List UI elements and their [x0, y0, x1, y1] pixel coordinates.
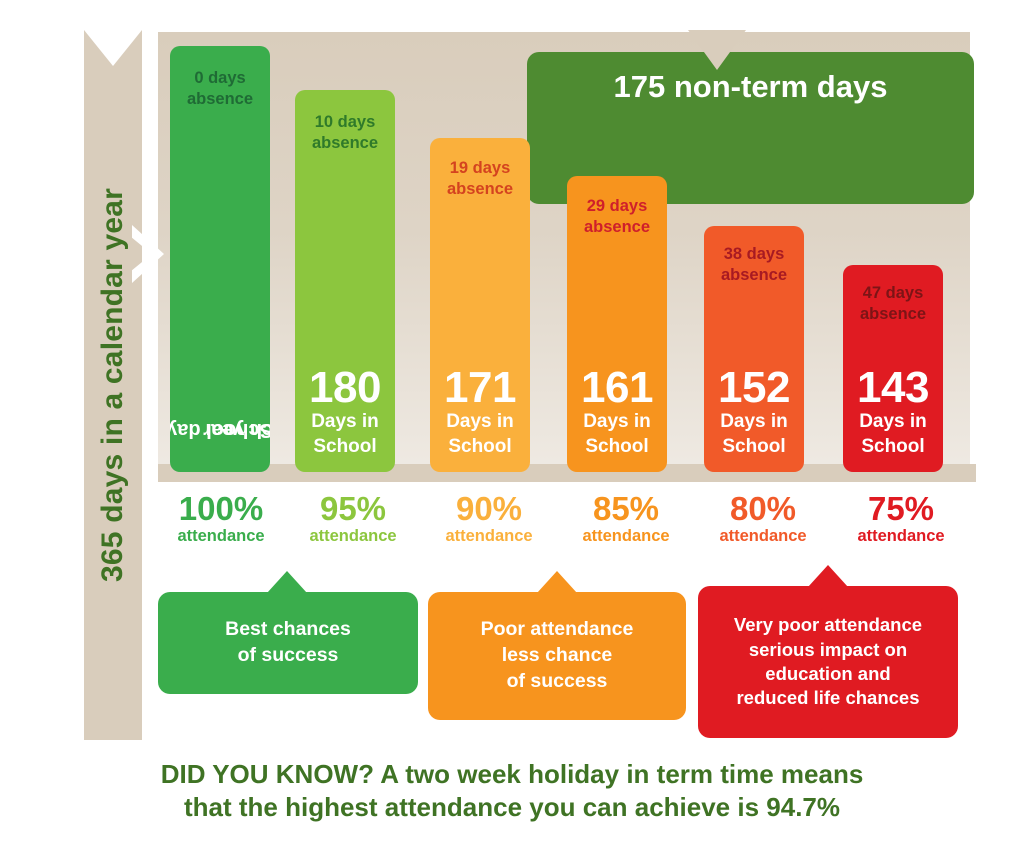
callout-very-poor-line3: education and: [734, 662, 922, 686]
bar-171-sub-line2: School: [430, 436, 530, 458]
bar-190-absence-line1: 0 days: [170, 68, 270, 89]
callout-very-poor-line2: serious impact on: [734, 638, 922, 662]
bar-143-absence-line2: absence: [843, 304, 943, 325]
bar-171-absence: 19 days absence: [430, 158, 530, 200]
bar-180-sub-line1: Days in: [295, 411, 395, 433]
attendance-label-85: attendance: [563, 527, 689, 546]
callout-tip-red-icon: [808, 565, 848, 587]
callout-best-chances-line1: Best chances: [225, 617, 351, 643]
callout-very-poor-line1: Very poor attendance: [734, 613, 922, 637]
bar-171-absence-line1: 19 days: [430, 158, 530, 179]
attendance-cell-80: 80% attendance: [700, 492, 826, 546]
attendance-value-75: 75%: [838, 492, 964, 526]
callout-very-poor-attendance-text: Very poor attendance serious impact on e…: [734, 613, 922, 711]
non-term-days-label: 175 non-term days: [527, 52, 974, 122]
callout-poor-attendance: Poor attendance less chance of success: [428, 592, 686, 720]
bar-161-bottom: 161 Days in School: [567, 366, 667, 458]
bar-152: 38 days absence 152 Days in School: [704, 226, 804, 472]
attendance-cell-85: 85% attendance: [563, 492, 689, 546]
bar-171-bottom: 171 Days in School: [430, 366, 530, 458]
bar-171: 19 days absence 171 Days in School: [430, 138, 530, 472]
bar-152-absence-line2: absence: [704, 265, 804, 286]
callout-poor-attendance-line1: Poor attendance: [481, 617, 634, 643]
bar-161-sub-line2: School: [567, 436, 667, 458]
footer-line1: DID YOU KNOW? A two week holiday in term…: [0, 758, 1024, 791]
footer-line2: that the highest attendance you can achi…: [0, 791, 1024, 824]
attendance-cell-95: 95% attendance: [290, 492, 416, 546]
bar-143-sub-line2: School: [843, 436, 943, 458]
attendance-cell-100: 100% attendance: [158, 492, 284, 546]
bar-180-absence-line2: absence: [295, 133, 395, 154]
callout-very-poor-attendance: Very poor attendance serious impact on e…: [698, 586, 958, 738]
bar-152-sub-line1: Days in: [704, 411, 804, 433]
bar-152-bottom: 152 Days in School: [704, 366, 804, 458]
attendance-label-100: attendance: [158, 527, 284, 546]
attendance-infographic: 365 days in a calendar year 175 non-term…: [0, 0, 1024, 854]
bar-143-sub-line1: Days in: [843, 411, 943, 433]
bar-161: 29 days absence 161 Days in School: [567, 176, 667, 472]
bar-190-caption: School daysIn each year: [203, 371, 271, 472]
attendance-cell-90: 90% attendance: [426, 492, 552, 546]
bar-190: 0 days absence 190 School daysIn each ye…: [170, 46, 270, 472]
bar-161-sub-line1: Days in: [567, 411, 667, 433]
bar-190-caption-wrap: School daysIn each year: [204, 202, 270, 464]
attendance-cell-75: 75% attendance: [838, 492, 964, 546]
bar-180-value: 180: [295, 366, 395, 409]
bar-190-caption-line2: In each year: [201, 418, 270, 441]
callout-poor-attendance-text: Poor attendance less chance of success: [481, 617, 634, 694]
bar-190-rotated-group: 190 School daysIn each year: [170, 164, 270, 464]
bar-171-sub-line1: Days in: [430, 411, 530, 433]
callout-poor-attendance-line2: less chance: [481, 643, 634, 669]
attendance-value-95: 95%: [290, 492, 416, 526]
callout-best-chances: Best chances of success: [158, 592, 418, 694]
bar-161-absence: 29 days absence: [567, 196, 667, 238]
callout-best-chances-text: Best chances of success: [225, 617, 351, 668]
bar-143-bottom: 143 Days in School: [843, 366, 943, 458]
bar-143-absence-line1: 47 days: [843, 283, 943, 304]
attendance-label-90: attendance: [426, 527, 552, 546]
bar-143: 47 days absence 143 Days in School: [843, 265, 943, 472]
calendar-year-band: [84, 30, 142, 740]
bar-180-absence: 10 days absence: [295, 112, 395, 154]
bar-180-absence-line1: 10 days: [295, 112, 395, 133]
bar-152-value: 152: [704, 366, 804, 409]
attendance-label-95: attendance: [290, 527, 416, 546]
bar-152-sub-line2: School: [704, 436, 804, 458]
bar-143-value: 143: [843, 366, 943, 409]
bar-152-absence: 38 days absence: [704, 244, 804, 286]
callout-very-poor-line4: reduced life chances: [734, 686, 922, 710]
bar-171-absence-line2: absence: [430, 179, 530, 200]
bar-190-absence-line2: absence: [170, 89, 270, 110]
attendance-value-100: 100%: [158, 492, 284, 526]
callout-tip-green-icon: [267, 571, 307, 593]
bar-152-absence-line1: 38 days: [704, 244, 804, 265]
callout-best-chances-line2: of success: [225, 643, 351, 669]
bar-161-absence-line2: absence: [567, 217, 667, 238]
bar-180-bottom: 180 Days in School: [295, 366, 395, 458]
bar-180: 10 days absence 180 Days in School: [295, 90, 395, 472]
bar-190-absence: 0 days absence: [170, 68, 270, 110]
attendance-value-80: 80%: [700, 492, 826, 526]
attendance-label-75: attendance: [838, 527, 964, 546]
bar-171-value: 171: [430, 366, 530, 409]
attendance-value-90: 90%: [426, 492, 552, 526]
footer-note: DID YOU KNOW? A two week holiday in term…: [0, 758, 1024, 825]
bar-161-value: 161: [567, 366, 667, 409]
bar-180-sub-line2: School: [295, 436, 395, 458]
attendance-label-80: attendance: [700, 527, 826, 546]
attendance-value-85: 85%: [563, 492, 689, 526]
callout-tip-orange-icon: [537, 571, 577, 593]
callout-poor-attendance-line3: of success: [481, 669, 634, 695]
bar-161-absence-line1: 29 days: [567, 196, 667, 217]
bar-143-absence: 47 days absence: [843, 283, 943, 325]
